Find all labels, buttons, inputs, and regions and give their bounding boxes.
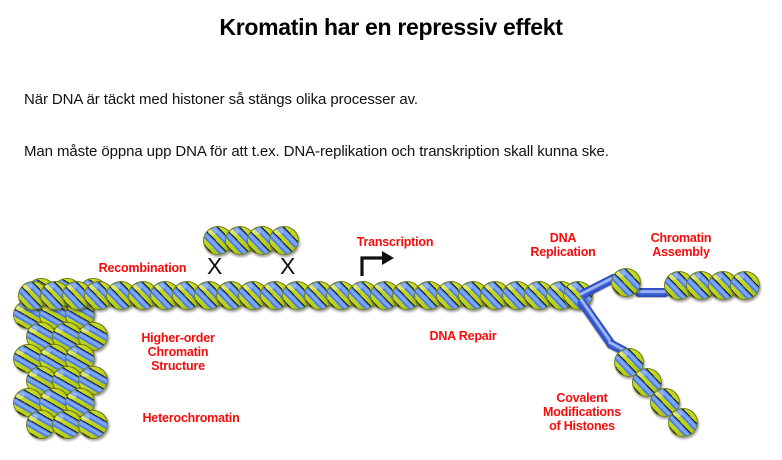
label-higher-order-chromatin-structure: Higher-order Chromatin Structure [123, 331, 233, 373]
nucleosome-bead [611, 268, 641, 297]
crossover-mark-1: X [207, 255, 222, 278]
chromatin-diagram: X X Recombination Transcription DNA Repl… [0, 205, 782, 460]
crossover-mark-2: X [280, 255, 295, 278]
body-paragraph-2: Man måste öppna upp DNA för att t.ex. DN… [24, 143, 609, 160]
nucleosome-bead [668, 408, 698, 437]
nucleosome-bead [269, 226, 299, 255]
label-covalent-modifications-of-histones: Covalent Modifications of Histones [522, 391, 642, 433]
label-dna-replication: DNA Replication [518, 231, 608, 259]
label-transcription: Transcription [340, 235, 450, 249]
transcription-arrow-icon [358, 248, 396, 278]
page-title: Kromatin har en repressiv effekt [0, 14, 782, 41]
label-heterochromatin: Heterochromatin [126, 411, 256, 425]
label-chromatin-assembly: Chromatin Assembly [626, 231, 736, 259]
label-dna-repair: DNA Repair [413, 329, 513, 343]
nucleosome-bead [730, 271, 760, 300]
body-paragraph-1: När DNA är täckt med histoner så stängs … [24, 91, 418, 108]
label-recombination: Recombination [80, 261, 205, 275]
